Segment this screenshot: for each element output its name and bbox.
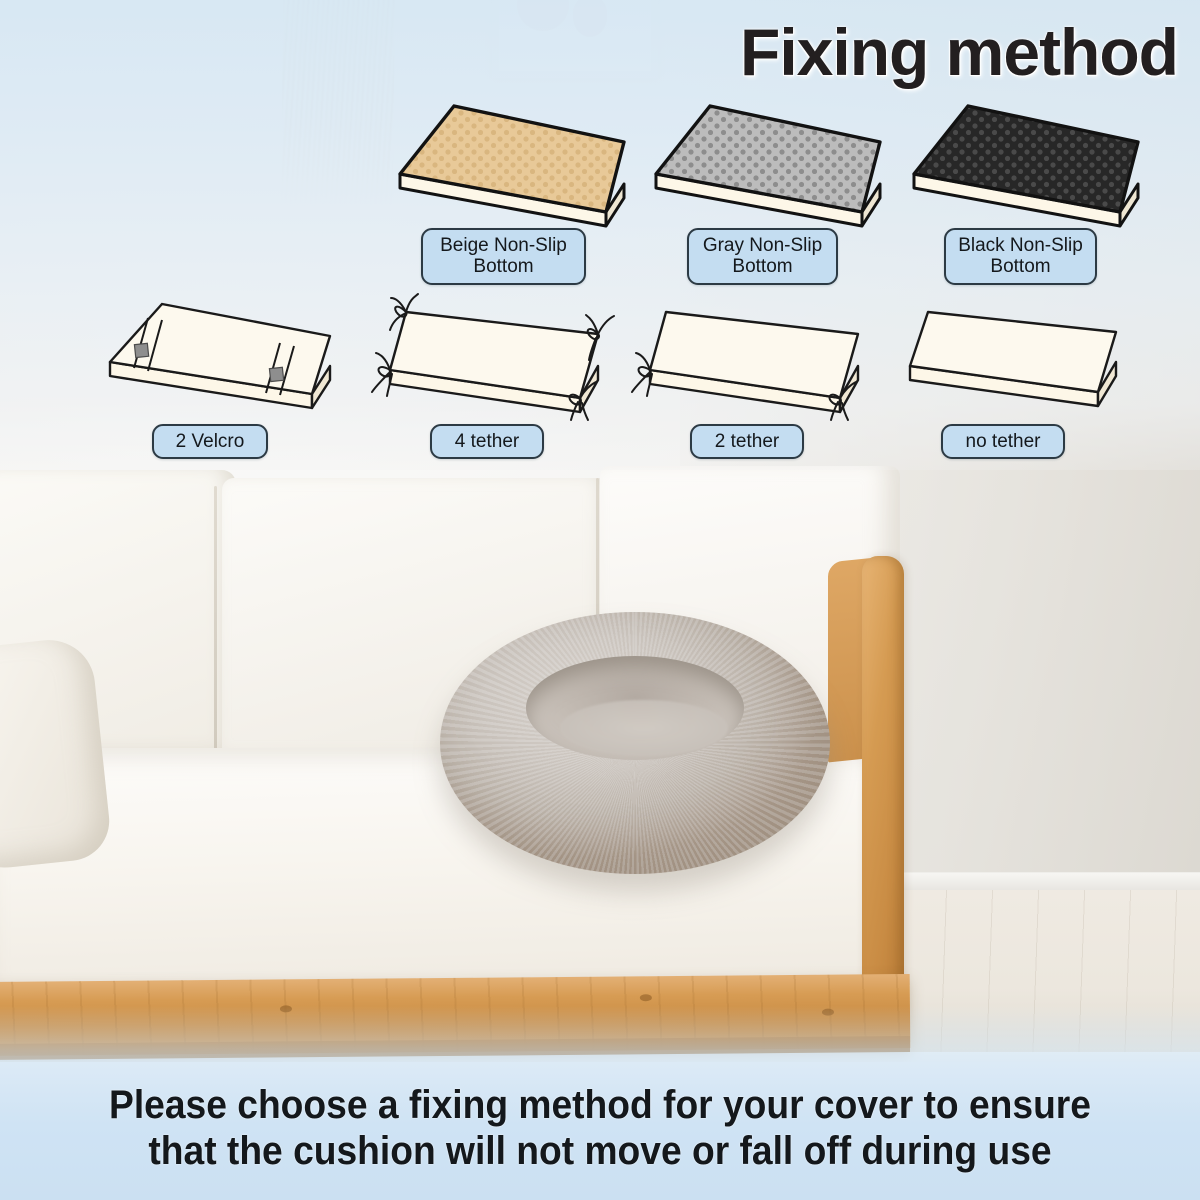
bottom-caption: Please choose a fixing method for your c… xyxy=(0,1082,1200,1175)
cushion-diagram-black xyxy=(906,96,1146,226)
infographic-canvas: Fixing method xyxy=(0,0,1200,1200)
label-2-velcro[interactable]: 2 Velcro xyxy=(152,424,268,459)
diagram-layer: Fixing method xyxy=(0,0,1200,1200)
label-gray-non-slip-bottom[interactable]: Gray Non-Slip Bottom xyxy=(687,228,838,285)
bottom-caption-line-1: Please choose a fixing method for your c… xyxy=(42,1082,1158,1128)
label-2-tether[interactable]: 2 tether xyxy=(690,424,804,459)
label-black-non-slip-bottom[interactable]: Black Non-Slip Bottom xyxy=(944,228,1097,285)
page-title: Fixing method xyxy=(740,14,1178,90)
cushion-diagram-4-tether xyxy=(366,288,616,418)
label-4-tether[interactable]: 4 tether xyxy=(430,424,544,459)
label-no-tether[interactable]: no tether xyxy=(941,424,1065,459)
bottom-caption-line-2: that the cushion will not move or fall o… xyxy=(42,1128,1158,1174)
cushion-diagram-2-velcro xyxy=(104,296,344,416)
cushion-diagram-beige xyxy=(392,96,632,226)
cushion-diagram-gray xyxy=(648,96,888,226)
label-beige-non-slip-bottom[interactable]: Beige Non-Slip Bottom xyxy=(421,228,586,285)
cushion-diagram-no-tether xyxy=(890,292,1130,412)
cushion-diagram-2-tether xyxy=(626,288,876,418)
